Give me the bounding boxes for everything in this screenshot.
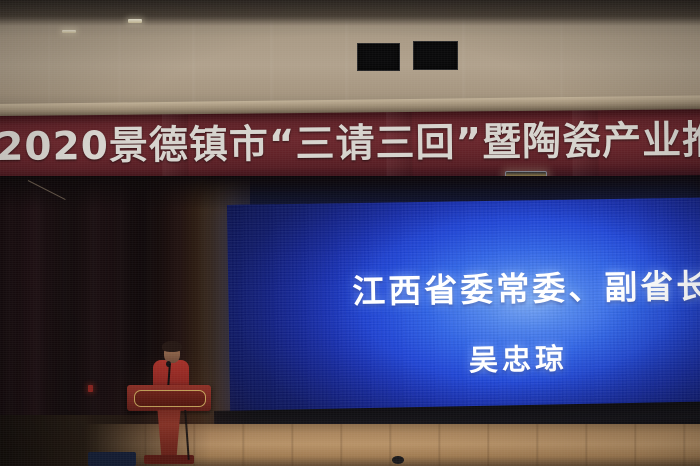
banner-title-text: 2020景德镇市“三请三回”暨陶瓷产业推 [0,117,700,172]
screen-title-text: 江西省委常委、副省长 [352,258,700,314]
speaker-hair [162,341,182,352]
podium-front-panel [134,390,206,407]
ceiling-spotlight-icon [128,19,142,23]
floor-cable-coil [392,456,404,464]
conference-stage-photo: 2020景德镇市“三请三回”暨陶瓷产业推 江西省委常委、副省长 吴忠琼 [0,0,700,466]
floor-equipment-case [88,452,136,466]
ceiling-shadow [0,0,700,26]
wall-indicator-light [88,385,93,392]
screen-subtitle-text: 吴忠琼 [353,334,684,381]
event-banner: 2020景德镇市“三请三回”暨陶瓷产业推 [0,109,700,182]
projection-booth-window-left [357,43,400,71]
ceiling-spotlight-icon [62,30,76,33]
led-projection-screen: 江西省委常委、副省长 吴忠琼 [227,198,700,421]
curtain-sheen [0,176,250,426]
projection-booth-window-right [413,41,458,70]
